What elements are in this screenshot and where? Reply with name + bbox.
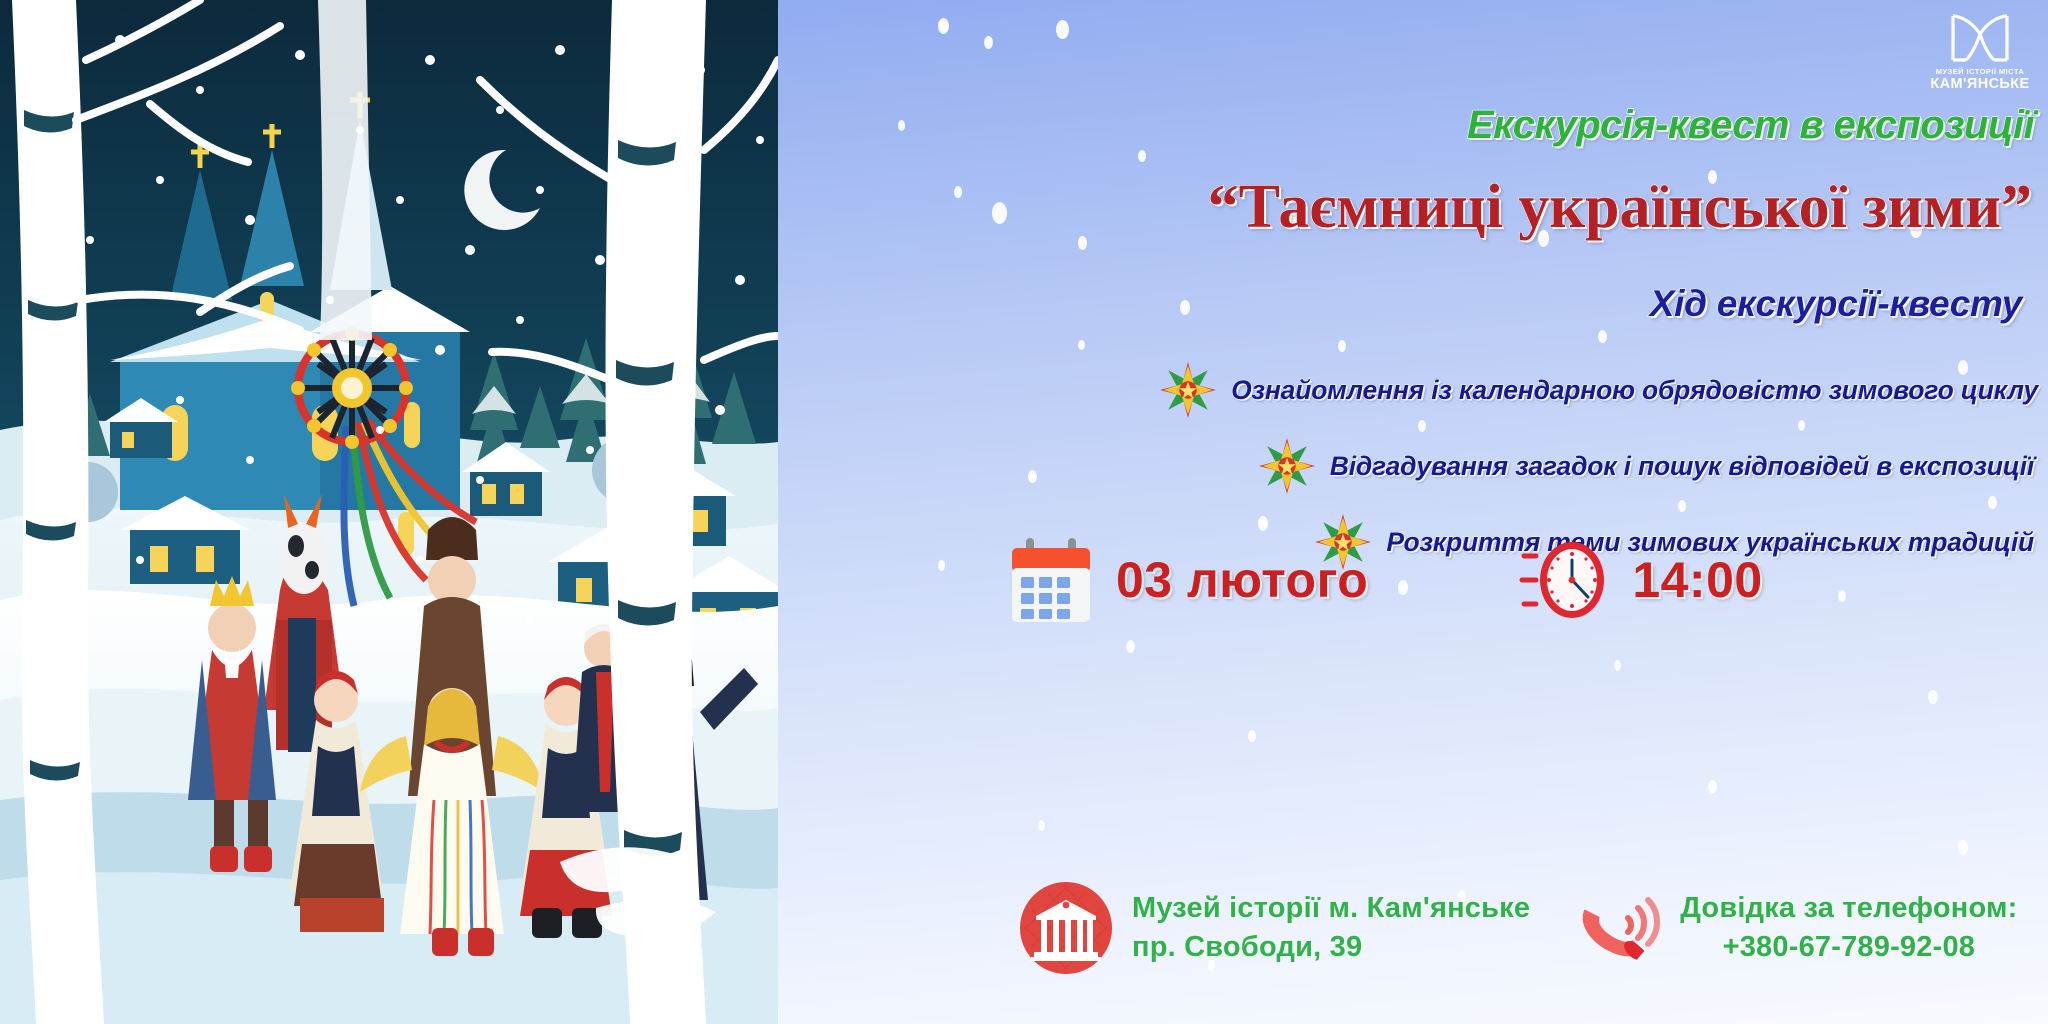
venue-address: пр. Свободи, 39 bbox=[1132, 931, 1530, 964]
phone-ring-icon bbox=[1574, 884, 1662, 972]
event-date: 03 лютого bbox=[1116, 551, 1368, 609]
phone-block[interactable]: Довідка за телефоном: +380-67-789-92-08 bbox=[1574, 884, 2017, 972]
page-title: “Таємниці української зими” bbox=[1208, 172, 2032, 243]
snow-dot bbox=[1138, 150, 1146, 162]
snow-dot bbox=[1708, 780, 1717, 793]
snow-dot bbox=[1056, 20, 1069, 39]
list-item-label: Відгадування загадок і пошук відповідей … bbox=[1330, 451, 2034, 482]
venue-lines: Музей історії м. Кам'янське пр. Свободи,… bbox=[1132, 892, 1530, 964]
snow-dot bbox=[1078, 236, 1087, 250]
winter-scene-illustration bbox=[0, 0, 778, 1024]
footer-contacts: Музей історії м. Кам'янське пр. Свободи,… bbox=[778, 880, 2048, 976]
time-block: 14:00 bbox=[1518, 534, 1762, 626]
venue-block: Музей історії м. Кам'янське пр. Свободи,… bbox=[1018, 880, 1530, 976]
snow-dot bbox=[1958, 840, 1968, 855]
headline: Екскурсія-квест в експозиції bbox=[1467, 103, 2034, 148]
illustration-svg bbox=[0, 0, 778, 1024]
calendar-icon bbox=[1008, 536, 1094, 624]
snow-dot bbox=[992, 202, 1007, 224]
snow-dot bbox=[1928, 690, 1938, 704]
poster-content: МУЗЕЙ ІСТОРІЇ МІСТА КАМ'ЯНСЬКЕ Екскурсія… bbox=[778, 0, 2048, 1024]
phone-number[interactable]: +380-67-789-92-08 bbox=[1723, 931, 1976, 964]
phone-label: Довідка за телефоном: bbox=[1680, 892, 2017, 925]
date-block: 03 лютого bbox=[1008, 536, 1368, 624]
snow-dot bbox=[954, 186, 962, 198]
subheading: Хід екскурсії-квесту bbox=[1650, 283, 2022, 325]
ukrainian-star-icon bbox=[1159, 361, 1217, 419]
snow-dot bbox=[1126, 640, 1135, 653]
snow-dot bbox=[984, 36, 993, 49]
logo-line-1: МУЗЕЙ ІСТОРІЇ МІСТА bbox=[1936, 67, 2025, 76]
snow-dot bbox=[1248, 730, 1256, 742]
logo-line-2: КАМ'ЯНСЬКЕ bbox=[1930, 76, 2029, 92]
snow-dot bbox=[1598, 330, 1607, 343]
ukrainian-star-icon bbox=[1258, 437, 1316, 495]
museum-logo[interactable]: МУЗЕЙ ІСТОРІЇ МІСТА КАМ'ЯНСЬКЕ bbox=[1934, 8, 2026, 100]
snow-dot bbox=[1180, 300, 1190, 315]
poster-root: МУЗЕЙ ІСТОРІЇ МІСТА КАМ'ЯНСЬКЕ Екскурсія… bbox=[0, 0, 2048, 1024]
phone-lines: Довідка за телефоном: +380-67-789-92-08 bbox=[1680, 892, 2017, 964]
snow-dot bbox=[1038, 820, 1045, 831]
clock-icon bbox=[1518, 534, 1610, 626]
list-item: Ознайомлення із календарною обрядовістю … bbox=[670, 352, 2040, 428]
venue-name: Музей історії м. Кам'янське bbox=[1132, 892, 1530, 925]
list-item-label: Ознайомлення із календарною обрядовістю … bbox=[1231, 375, 2038, 406]
snow-dot bbox=[898, 120, 905, 131]
snow-dot bbox=[1338, 340, 1346, 352]
event-time: 14:00 bbox=[1632, 551, 1762, 609]
datetime-row: 03 лютого bbox=[778, 534, 2048, 626]
list-item: Відгадування загадок і пошук відповідей … bbox=[670, 428, 2040, 504]
museum-book-logo-icon bbox=[1950, 12, 2010, 64]
snow-dot bbox=[938, 18, 949, 34]
museum-building-icon bbox=[1018, 880, 1114, 976]
snow-dot bbox=[1614, 660, 1621, 671]
snow-dot bbox=[1078, 340, 1085, 350]
